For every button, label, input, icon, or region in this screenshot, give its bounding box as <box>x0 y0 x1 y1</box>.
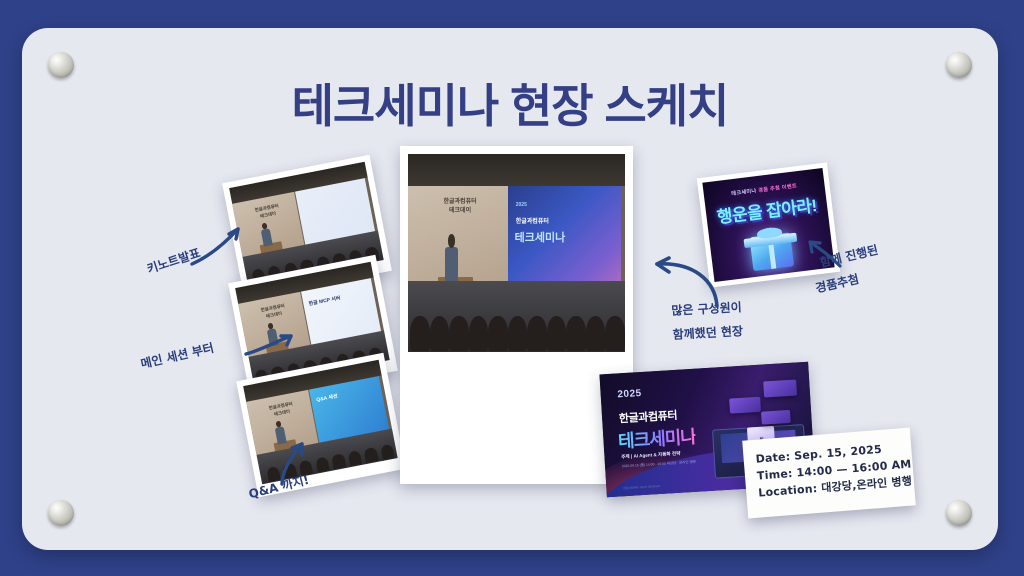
arrow-to-main-photo <box>645 252 723 308</box>
page-title: 테크세미나 현장 스케치 <box>22 70 998 136</box>
auditorium-photo-content: 한글과컴퓨터테크데이 2025 한글과컴퓨터 테크세미나 <box>408 154 625 352</box>
arrow-to-prize-card <box>806 236 846 270</box>
ui-card-graphic-2 <box>729 397 761 414</box>
slide-year: 2025 <box>516 202 527 208</box>
photo-auditorium-main[interactable]: 한글과컴퓨터테크데이 2025 한글과컴퓨터 테크세미나 <box>400 146 633 484</box>
screw-bottom-right <box>946 500 972 526</box>
slide-org: 한글과컴퓨터 <box>516 216 549 225</box>
qa-photo-content: 한글과컴퓨터테크데이 Q&A 세션 <box>243 360 398 484</box>
slide-title: 테크세미나 <box>515 229 566 245</box>
ceiling-lights <box>408 154 625 186</box>
speaker-person <box>445 247 458 281</box>
arrow-to-main-session-photo <box>243 330 299 360</box>
ui-card-graphic-1 <box>763 380 797 398</box>
slide-title: 한글 MCP 서버 <box>308 295 341 308</box>
arrow-to-keynote-photo <box>188 222 248 268</box>
prize-event-brand: 테크세미나 <box>731 188 757 197</box>
arrow-to-qa-photo <box>272 438 316 486</box>
audience <box>408 281 625 352</box>
poster-year: 2025 <box>617 388 642 400</box>
hall-scene: 한글과컴퓨터테크데이 2025 한글과컴퓨터 테크세미나 <box>408 154 625 352</box>
wall-brand-text: 한글과컴퓨터테크데이 <box>421 198 499 216</box>
event-info-note[interactable]: Date: Sep. 15, 2025 Time: 14:00 — 16:00 … <box>742 428 916 519</box>
annotation-members-line2: 함께했던 현장 <box>672 322 743 344</box>
prize-event-highlight: 경품 추첨 이벤트 <box>758 183 797 194</box>
poster-org: 한글과컴퓨터 <box>618 407 677 427</box>
ui-card-graphic-3 <box>761 410 791 425</box>
poster-title: 테크세미나 <box>617 423 696 454</box>
slide-title: Q&A 세션 <box>316 392 338 403</box>
screw-bottom-left <box>48 500 74 526</box>
